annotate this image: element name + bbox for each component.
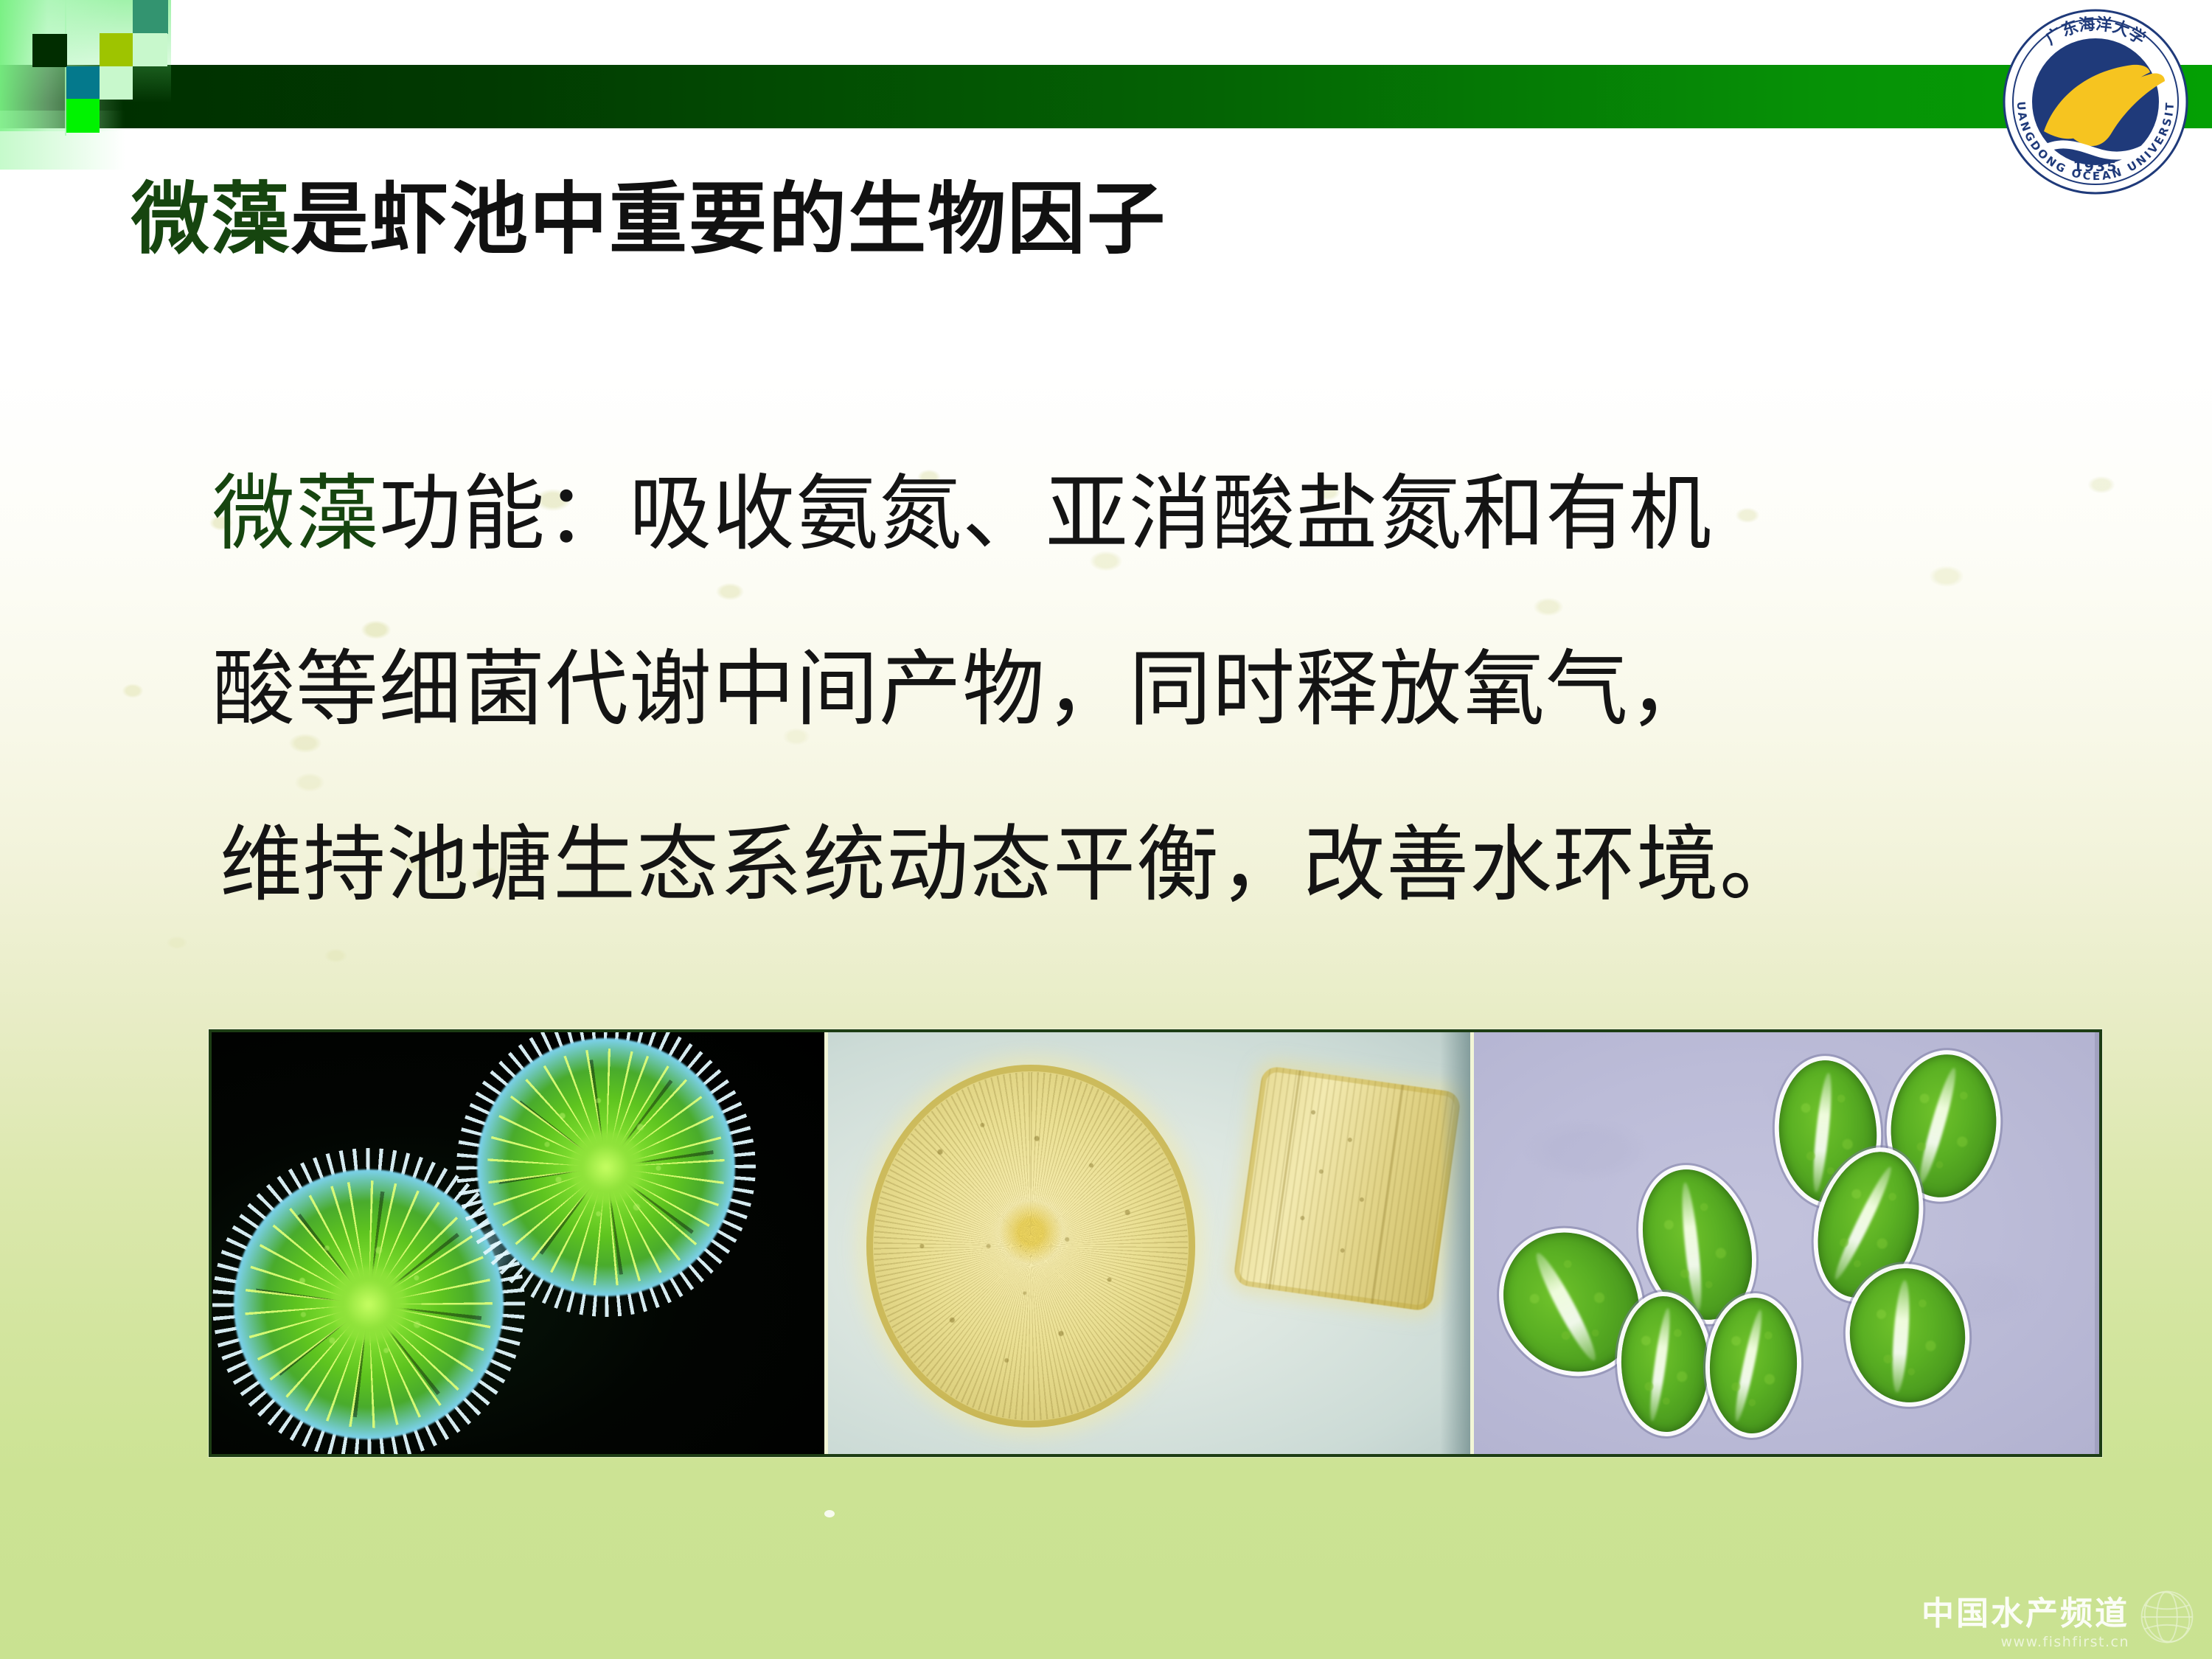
body-paragraph: 微藻功能：吸收氨氮、亚消酸盐氮和有机 酸等细菌代谢中间产物，同时释放氧气， 维持… <box>212 426 2100 953</box>
mosaic-square-yellow-green <box>100 33 133 66</box>
body-line-2: 酸等细菌代谢中间产物，同时释放氧气， <box>212 602 2100 777</box>
mosaic-square-teal-cyan <box>66 66 100 100</box>
page-title-highlight: 微藻 <box>131 173 291 265</box>
page-title-rest: 是虾池中重要的生物因子 <box>291 173 1166 265</box>
diatom-valve-punctae <box>880 1078 1182 1414</box>
diatom-valve-view <box>866 1065 1195 1427</box>
micrograph-strip <box>209 1029 2102 1457</box>
mosaic-square-pale-mint-2 <box>100 66 133 100</box>
centric-diatom-micrograph <box>828 1032 1474 1454</box>
mosaic-square-dark-green <box>32 34 67 67</box>
green-oval-cells-micrograph <box>1474 1032 2099 1454</box>
body-line-3: 维持池塘生态系统动态平衡，改善水环境。 <box>220 777 2100 953</box>
body-line-1: 微藻功能：吸收氨氮、亚消酸盐氮和有机 <box>212 426 2100 602</box>
page-title: 微藻是虾池中重要的生物因子 <box>131 175 1166 263</box>
diatom-girdle-punctae <box>1232 1065 1461 1312</box>
mosaic-square-teal-green <box>133 0 168 34</box>
watermark-site-name: 中国水产频道 <box>1921 1587 2129 1634</box>
cells-edge-shadow <box>2095 1032 2099 1454</box>
globe-wireframe-icon <box>2135 1585 2199 1649</box>
header-green-bar <box>0 65 2212 128</box>
body-line-1-rest: 功能：吸收氨氮、亚消酸盐氮和有机 <box>379 466 1712 562</box>
mosaic-square-bright-green <box>66 99 100 133</box>
background-speck <box>824 1510 835 1517</box>
university-seal-logo: 1935 广东海洋大学 GUANGDONG OCEAN UNIVERSITY <box>2001 7 2190 196</box>
slide-canvas: 1935 广东海洋大学 GUANGDONG OCEAN UNIVERSITY 微… <box>0 0 2212 1659</box>
mosaic-square-pale-mint <box>133 33 167 66</box>
desmid-micrograph <box>212 1032 828 1454</box>
pane-separator-1 <box>824 1032 828 1454</box>
pane-separator-2 <box>1470 1032 1474 1454</box>
site-watermark: 中国水产频道 www.fishfirst.cn <box>1891 1591 2200 1653</box>
body-line-1-highlight: 微藻 <box>212 466 379 562</box>
watermark-site-url: www.fishfirst.cn <box>2001 1634 2129 1650</box>
diatom-edge-shadow <box>1440 1032 1474 1454</box>
